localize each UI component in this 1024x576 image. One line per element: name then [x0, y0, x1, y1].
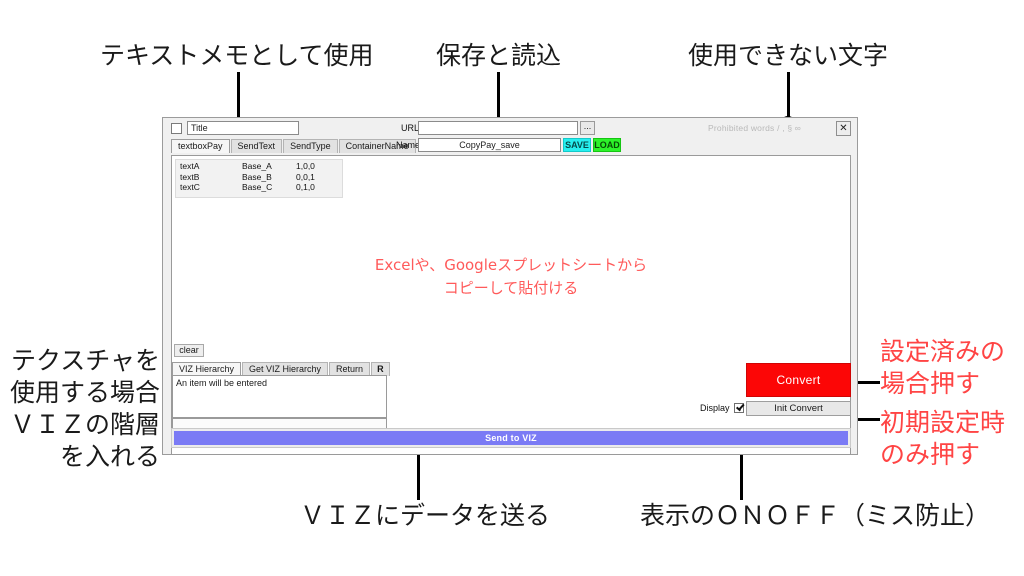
tab-bar: textboxPay SendText SendType ContainerNa… — [171, 139, 417, 153]
viz-hierarchy-textarea[interactable]: An item will be entered — [172, 375, 387, 418]
cell-base: Base_C — [242, 183, 296, 194]
send-to-viz-button[interactable]: Send to VIZ — [174, 431, 848, 445]
annotation-bottom-center: ＶＩＺにデータを送る — [300, 500, 550, 532]
url-browse-button[interactable]: ... — [580, 121, 595, 135]
paste-instruction-note: Excelや、Googleスプレットシートから コピーして貼付ける — [172, 254, 850, 299]
cell-value: 0,1,0 — [296, 183, 336, 194]
pasted-data-grid: textA Base_A 1,0,0 textB Base_B 0,0,1 te… — [175, 159, 343, 198]
title-input[interactable]: Title — [187, 121, 299, 135]
name-label: Name — [396, 140, 420, 150]
annotation-bottom-right: 表示のＯＮＯＦＦ（ミス防止） — [640, 500, 990, 532]
leader-line-bottom-center — [417, 448, 420, 500]
tab-get-viz-hierarchy[interactable]: Get VIZ Hierarchy — [242, 362, 328, 376]
leader-line-top-right — [787, 72, 790, 122]
display-checkbox[interactable] — [734, 403, 744, 413]
name-input[interactable]: CopyPay_save — [418, 138, 561, 152]
tab-sendtype[interactable]: SendType — [283, 139, 338, 153]
tab-r[interactable]: R — [371, 362, 390, 376]
convert-button[interactable]: Convert — [746, 363, 851, 397]
annotation-top-center: 保存と読込 — [436, 40, 561, 72]
table-row: textC Base_C 0,1,0 — [180, 183, 336, 194]
prohibited-words-hint: Prohibited words / , § ∞ — [708, 123, 801, 133]
application-window: Title textboxPay SendText SendType Conta… — [162, 117, 858, 455]
cell-value: 1,0,0 — [296, 162, 336, 173]
send-to-viz-container: Send to VIZ — [171, 428, 851, 448]
load-button[interactable]: LOAD — [593, 138, 621, 152]
display-label: Display — [700, 403, 730, 413]
window-top-area: Title textboxPay SendText SendType Conta… — [163, 118, 857, 156]
viz-tab-bar: VIZ Hierarchy Get VIZ Hierarchy Return R — [172, 362, 391, 376]
annotation-left-side: テクスチャを 使用する場合 ＶＩＺの階層 を入れる — [0, 345, 160, 473]
tab-viz-hierarchy[interactable]: VIZ Hierarchy — [172, 362, 241, 376]
url-input[interactable] — [418, 121, 578, 135]
clear-button[interactable]: clear — [174, 344, 204, 357]
annotation-right-upper: 設定済みの 場合押す — [880, 336, 1005, 400]
save-button[interactable]: SAVE — [563, 138, 591, 152]
cell-name: textC — [180, 183, 242, 194]
cell-base: Base_A — [242, 162, 296, 173]
annotation-top-left: テキストメモとして使用 — [100, 40, 374, 72]
tab-textboxpay[interactable]: textboxPay — [171, 139, 230, 153]
annotation-right-lower: 初期設定時 のみ押す — [880, 407, 1005, 471]
tab-return[interactable]: Return — [329, 362, 370, 376]
close-icon[interactable]: ✕ — [836, 121, 851, 136]
annotation-top-right: 使用できない文字 — [688, 40, 888, 72]
init-convert-button[interactable]: Init Convert — [746, 401, 851, 416]
tab-sendtext[interactable]: SendText — [231, 139, 283, 153]
url-label: URL — [401, 123, 419, 133]
table-row: textA Base_A 1,0,0 — [180, 162, 336, 173]
cell-name: textA — [180, 162, 242, 173]
title-checkbox[interactable] — [171, 123, 182, 134]
